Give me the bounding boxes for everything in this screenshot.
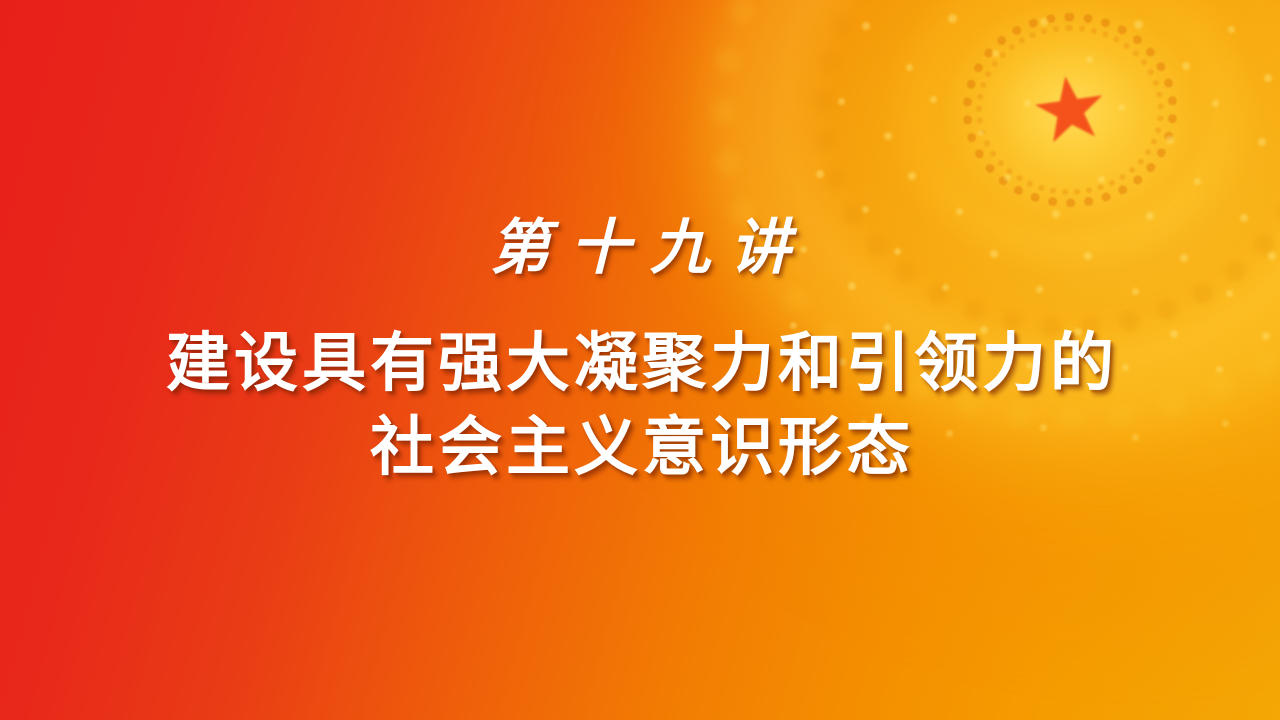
slide-headline: 建设具有强大凝聚力和引领力的 社会主义意识形态 (0, 322, 1280, 490)
headline-line-1: 建设具有强大凝聚力和引领力的 (0, 322, 1280, 406)
lecture-number-title: 第十九讲 (0, 206, 1280, 290)
slide-text-layer: 第十九讲 建设具有强大凝聚力和引领力的 社会主义意识形态 (0, 0, 1280, 720)
headline-line-2: 社会主义意识形态 (0, 406, 1280, 490)
title-slide: 第十九讲 建设具有强大凝聚力和引领力的 社会主义意识形态 (0, 0, 1280, 720)
